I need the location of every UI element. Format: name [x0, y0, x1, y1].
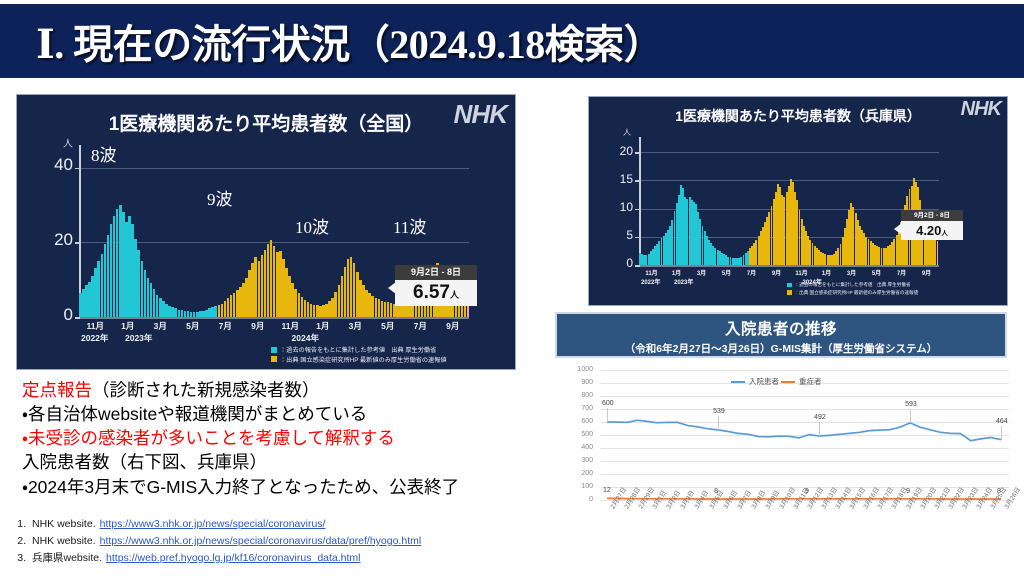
wave-label: 11波 — [393, 213, 426, 238]
footnote-number: 3. — [6, 550, 32, 567]
footnote-link[interactable]: https://www3.nhk.or.jp/news/special/coro… — [100, 533, 422, 550]
gridline — [601, 448, 1009, 449]
callout-unit: 人 — [450, 290, 459, 300]
data-label-leader — [819, 422, 820, 436]
legend-label: ：過去の報告をもとに集計した参考値 出典 厚生労働省 — [795, 282, 911, 288]
footnote-label: 兵庫県website. — [32, 550, 106, 567]
gridline — [601, 370, 1009, 371]
legend-item: 入院患者 — [731, 376, 779, 387]
callout-value-row: 4.20人 — [901, 221, 963, 240]
gridline — [601, 435, 1009, 436]
y-axis-tick: 600 — [543, 418, 593, 425]
footnote-label: NHK website. — [32, 533, 100, 550]
callout-value: 6.57 — [413, 282, 450, 303]
y-axis-tick: 500 — [543, 431, 593, 438]
gridline — [601, 396, 1009, 397]
y-axis-tick: 900 — [543, 379, 593, 386]
gmis-subtitle: （令和6年2月27日～3月26日）G-MIS集計（厚生労働省システム） — [557, 341, 1005, 356]
legend-swatch — [781, 381, 795, 383]
footnote-link[interactable]: https://web.pref.hyogo.lg.jp/kf16/corona… — [106, 550, 360, 567]
wave-label: 10波 — [295, 213, 329, 238]
y-axis-tick: 15 — [611, 172, 633, 186]
legend-item: ：出典 国立感染症研究所HP 最新値のみ厚生労働省の速報値 — [787, 290, 918, 296]
legend-swatch — [731, 381, 745, 383]
text-line-2: ・各自治体websiteや報道機関がまとめている — [22, 402, 542, 426]
callout-value-row: 6.57人 — [395, 280, 477, 306]
legend-label: ：出典 国立感染症研究所HP 最新値のみ厚生労働省の速報値 — [280, 355, 447, 364]
data-label: 593 — [905, 401, 917, 408]
footnote-list: 1. NHK website. https://www3.nhk.or.jp/n… — [6, 516, 546, 567]
y-axis-tick: 800 — [543, 392, 593, 399]
y-axis-unit-hyogo: 人 — [623, 127, 631, 138]
legend-item: 重症者 — [781, 376, 822, 387]
y-axis-tick: 200 — [543, 470, 593, 477]
legend-swatch — [787, 290, 792, 295]
x-axis-year-label: 2023年 — [674, 277, 693, 286]
footnote-item: 1. NHK website. https://www3.nhk.or.jp/n… — [6, 516, 546, 533]
legend-label: ：出典 国立感染症研究所HP 最新値のみ厚生労働省の速報値 — [795, 290, 919, 296]
x-axis-tick: 9月 — [431, 320, 475, 332]
callout-period: 9月2日 - 8日 — [901, 210, 963, 221]
x-axis-year-label: 2024年 — [292, 332, 319, 344]
text-line-4: 入院患者数（右下図、兵庫県） — [22, 450, 542, 474]
footnote-number: 1. — [6, 516, 32, 533]
wave-label: 8波 — [91, 141, 117, 166]
chart-title-national: 1医療機関あたり平均患者数（全国） — [17, 109, 515, 136]
legend-swatch — [787, 283, 792, 288]
y-axis-tick: 20 — [611, 144, 633, 158]
footnote-item: 2. NHK website. https://www3.nhk.or.jp/n… — [6, 533, 546, 550]
legend-swatch — [271, 347, 277, 353]
data-label: 464 — [996, 418, 1008, 425]
chart-panel-hyogo: 1医療機関あたり平均患者数（兵庫県） NHK 人 0510152011月1月3月… — [588, 96, 1008, 306]
text-line-1: 定点報告（診断された新規感染者数） — [22, 378, 542, 402]
text-line-3: ・未受診の感染者が多いことを考慮して解釈する — [22, 426, 542, 450]
x-axis-line — [639, 265, 939, 267]
y-axis-tick: 700 — [543, 405, 593, 412]
y-axis-tick: 100 — [543, 483, 593, 490]
data-label-leader — [1001, 426, 1002, 440]
y-axis-tick: 1000 — [543, 366, 593, 373]
chart-panel-gmis: 入院患者の推移 （令和6年2月27日～3月26日）G-MIS集計（厚生労働省シス… — [543, 306, 1021, 574]
bar — [937, 241, 939, 265]
chart-plot-gmis: 10009008007006005004003002001000 入院患者 重症… — [543, 362, 1021, 574]
chart-panel-national: 1医療機関あたり平均患者数（全国） NHK 人 0204011月1月3月5月7月… — [16, 94, 516, 370]
legend-item: ：過去の報告をもとに集計した参考値 出典 厚生労働省 — [271, 345, 436, 354]
callout-period: 9月2日 - 8日 — [395, 265, 477, 280]
explanatory-text-block: 定点報告（診断された新規感染者数） ・各自治体websiteや報道機関がまとめて… — [22, 378, 542, 499]
data-label-leader — [718, 416, 719, 430]
gridline — [601, 461, 1009, 462]
y-axis-unit-national: 人 — [63, 135, 73, 150]
gridline — [601, 422, 1009, 423]
y-axis-tick: 0 — [43, 305, 73, 325]
gridline — [601, 409, 1009, 410]
data-label-leader — [607, 408, 608, 422]
data-label: 600 — [602, 400, 614, 407]
callout-value: 4.20 — [916, 223, 941, 238]
slide-title-banner: Ⅰ. 現在の流行状況（2024.9.18検索） — [0, 4, 1024, 78]
text-line-1-rest: （診断された新規感染者数） — [92, 380, 320, 400]
data-label: 492 — [814, 414, 826, 421]
nhk-logo-icon: NHK — [961, 98, 1001, 121]
page-title: Ⅰ. 現在の流行状況（2024.9.18検索） — [36, 12, 663, 70]
gmis-header: 入院患者の推移 （令和6年2月27日～3月26日）G-MIS集計（厚生労働省シス… — [555, 312, 1007, 358]
legend-label: 入院患者 — [749, 376, 779, 387]
legend-label: ：過去の報告をもとに集計した参考値 出典 厚生労働省 — [280, 345, 436, 354]
wave-label: 9波 — [207, 185, 233, 210]
x-axis-year-label: 2023年 — [125, 332, 152, 344]
slide-root: Ⅰ. 現在の流行状況（2024.9.18検索） 1医療機関あたり平均患者数（全国… — [0, 0, 1024, 576]
data-label-leader — [910, 409, 911, 423]
nhk-logo-icon: NHK — [454, 99, 507, 130]
data-label: 539 — [713, 408, 725, 415]
gmis-title: 入院患者の推移 — [557, 317, 1005, 339]
x-axis-tick: 9月 — [905, 268, 949, 277]
data-label: 12 — [603, 487, 611, 494]
footnote-number: 2. — [6, 533, 32, 550]
text-line-1-emphasis: 定点報告 — [22, 380, 92, 400]
x-axis-year-label: 2022年 — [641, 277, 660, 286]
callout-box: 9月2日 - 8日 4.20人 — [901, 210, 963, 240]
bar-series-group — [639, 141, 939, 265]
gridline — [601, 474, 1009, 475]
legend-item: ：過去の報告をもとに集計した参考値 出典 厚生労働省 — [787, 282, 911, 288]
x-axis-year-label: 2022年 — [81, 332, 108, 344]
footnote-item: 3. 兵庫県website. https://web.pref.hyogo.lg… — [6, 550, 546, 567]
legend-label: 重症者 — [799, 376, 822, 387]
chart-title-hyogo: 1医療機関あたり平均患者数（兵庫県） — [589, 106, 1007, 126]
legend-swatch — [271, 356, 277, 362]
x-axis-line — [79, 317, 469, 319]
callout-arrow-icon — [388, 282, 396, 294]
y-axis-tick: 5 — [611, 228, 633, 242]
y-axis-tick: 10 — [611, 200, 633, 214]
legend-item: ：出典 国立感染症研究所HP 最新値のみ厚生労働省の速報値 — [271, 355, 447, 364]
y-axis-tick: 400 — [543, 444, 593, 451]
callout-unit: 人 — [941, 230, 948, 237]
line-series-inpatients — [607, 420, 1001, 441]
footnote-link[interactable]: https://www3.nhk.or.jp/news/special/coro… — [100, 516, 326, 533]
text-line-5: ・2024年3月末でG-MIS入力終了となったため、公表終了 — [22, 475, 542, 499]
y-axis-tick: 20 — [43, 230, 73, 250]
callout-box: 9月2日 - 8日 6.57人 — [395, 265, 477, 306]
callout-arrow-icon — [894, 223, 902, 235]
y-axis-tick: 300 — [543, 457, 593, 464]
y-axis-tick: 40 — [43, 155, 73, 175]
y-axis-tick: 0 — [543, 496, 593, 503]
footnote-label: NHK website. — [32, 516, 100, 533]
